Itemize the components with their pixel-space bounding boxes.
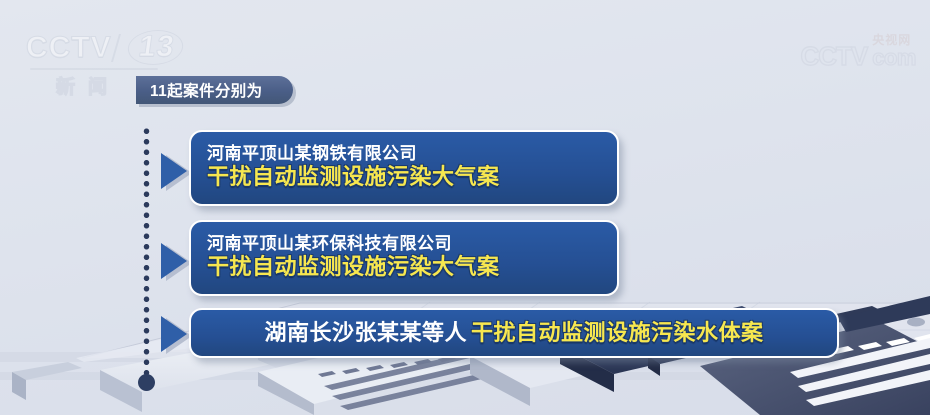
case-card-1[interactable]: 河南平顶山某钢铁有限公司 干扰自动监测设施污染大气案: [189, 130, 619, 206]
arrow-right-icon: [161, 316, 187, 352]
cctv-com-watermark: CCTV 央视网 com: [800, 34, 916, 69]
timeline-end-dot: [138, 374, 155, 391]
arrow-marker-case-2: [161, 243, 191, 279]
arrow-marker-case-3: [161, 316, 191, 352]
case-card-3[interactable]: 湖南长沙张某某等人 干扰自动监测设施污染水体案: [189, 308, 839, 358]
news-graphic-stage: CCTV 13 新闻 CCTV 央视网 com 11起案件分别为 河南: [0, 0, 930, 415]
header-banner: 11起案件分别为: [136, 76, 293, 104]
logo-cctv-text: CCTV: [26, 33, 112, 63]
logo-underline: [30, 68, 158, 70]
logo-channel-number: 13: [125, 30, 185, 65]
case-title-2: 河南平顶山某环保科技有限公司: [207, 233, 603, 254]
case-subtitle-1: 干扰自动监测设施污染大气案: [207, 164, 603, 191]
arrow-marker-case-1: [161, 153, 191, 189]
arrow-right-icon: [161, 243, 187, 279]
watermark-brand: CCTV: [800, 43, 867, 69]
case-card-2[interactable]: 河南平顶山某环保科技有限公司 干扰自动监测设施污染大气案: [189, 220, 619, 296]
case-title-3: 湖南长沙张某某等人: [264, 319, 467, 347]
watermark-domain: com: [872, 47, 916, 69]
case-subtitle-3: 干扰自动监测设施污染水体案: [471, 320, 764, 347]
case-title-1: 河南平顶山某钢铁有限公司: [207, 143, 603, 164]
timeline-dotted-line: [143, 126, 150, 378]
arrow-right-icon: [161, 153, 187, 189]
header-banner-label: 11起案件分别为: [150, 79, 263, 101]
case-subtitle-2: 干扰自动监测设施污染大气案: [207, 254, 603, 281]
logo-slash-icon: [111, 34, 129, 62]
